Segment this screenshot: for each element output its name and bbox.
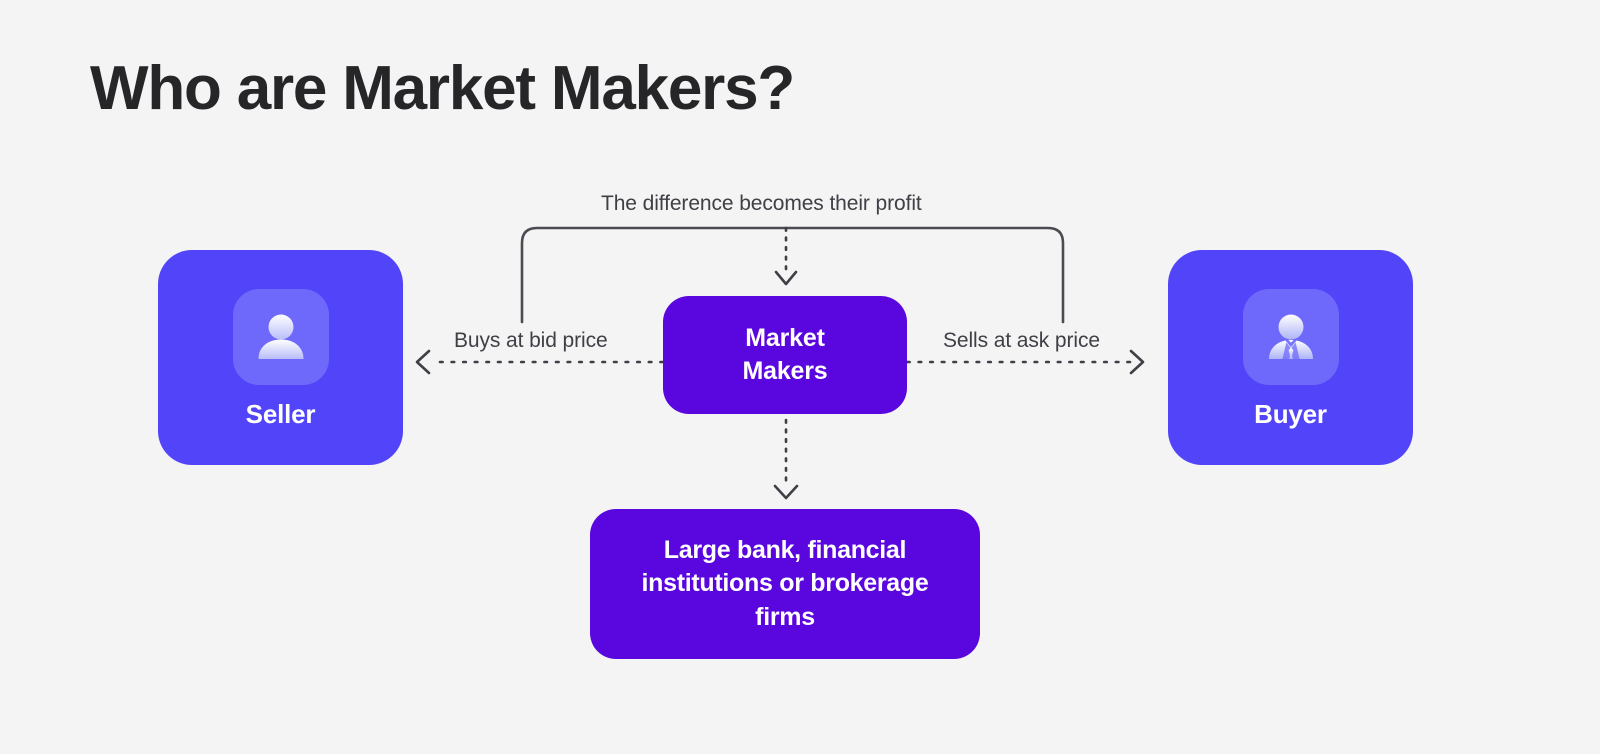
node-institutions[interactable]: Large bank, financial institutions or br… [590, 509, 980, 659]
edge-label-profit: The difference becomes their profit [601, 192, 922, 216]
buyer-icon-tile [1243, 289, 1339, 385]
page-title: Who are Market Makers? [90, 55, 794, 123]
businessperson-icon [1260, 306, 1322, 368]
edge-label-bid: Buys at bid price [454, 329, 608, 353]
node-market-makers[interactable]: Market Makers [663, 296, 907, 414]
bid-arrow [417, 351, 663, 373]
diagram-canvas: Who are Market Makers? [0, 0, 1600, 754]
institutions-down-arrow [775, 420, 797, 498]
buyer-label: Buyer [1254, 399, 1327, 430]
institutions-text: Large bank, financial institutions or br… [612, 534, 958, 635]
ask-arrow [907, 351, 1143, 373]
seller-label: Seller [246, 399, 316, 430]
seller-icon-tile [233, 289, 329, 385]
node-seller[interactable]: Seller [158, 250, 403, 465]
market-makers-line-2: Makers [743, 355, 828, 388]
person-icon [250, 306, 312, 368]
node-buyer[interactable]: Buyer [1168, 250, 1413, 465]
profit-down-arrow [776, 228, 796, 284]
edge-label-ask: Sells at ask price [943, 329, 1100, 353]
market-makers-line-1: Market [745, 322, 824, 355]
